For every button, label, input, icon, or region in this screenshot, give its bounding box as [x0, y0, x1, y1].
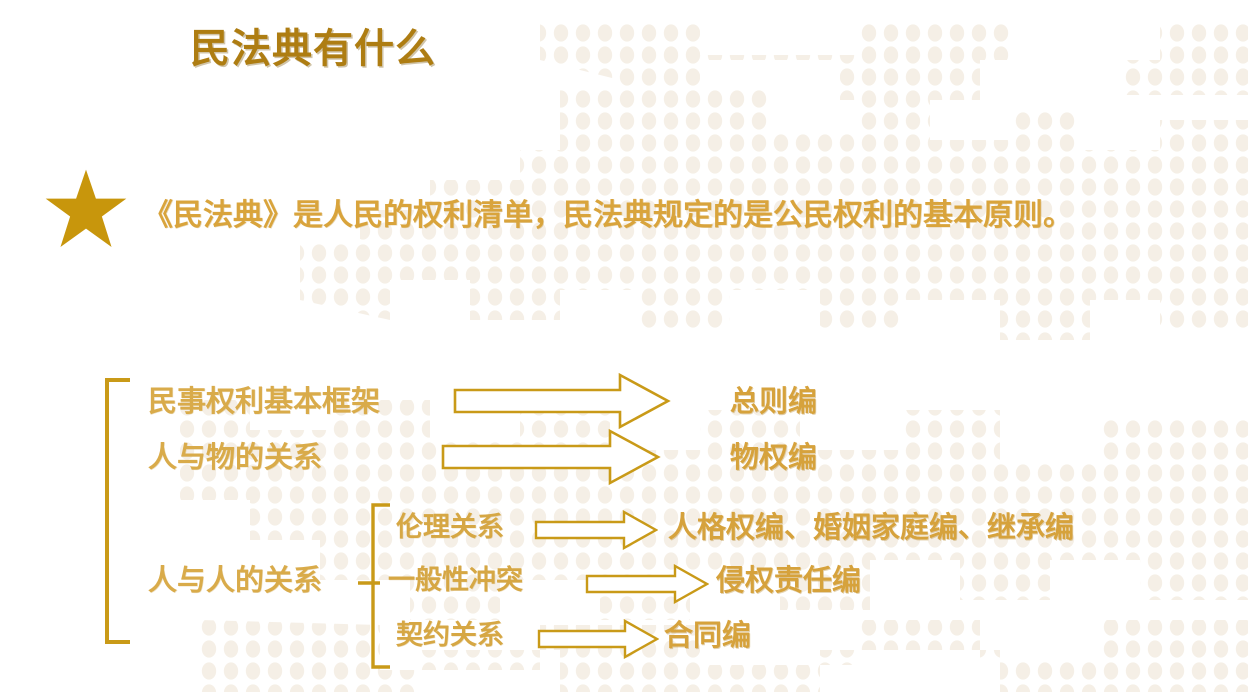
- block-arrow-right-3: [534, 510, 658, 550]
- subtitle-text: 《民法典》是人民的权利清单，民法典规定的是公民权利的基本原则。: [143, 196, 1073, 235]
- diagram-group-label: 人与人的关系: [148, 567, 322, 596]
- slide-canvas: 民法典有什么 《民法典》是人民的权利清单，民法典规定的是公民权利的基本原则。 民…: [0, 0, 1248, 692]
- diagram-target-label-3: 人格权编、婚姻家庭编、继承编: [668, 514, 1074, 543]
- diagram-source-label-4: 一般性冲突: [388, 567, 523, 594]
- bracket-tree-diagram: 民事权利基本框架 总则编 人与物的关系 物权编 人与人的关系 伦理关系 人格权编…: [0, 0, 1248, 692]
- diagram-target-label-4: 侵权责任编: [716, 567, 861, 596]
- diagram-source-label-1: 民事权利基本框架: [148, 388, 380, 417]
- page-title: 民法典有什么: [190, 26, 436, 72]
- star-icon: [44, 168, 128, 252]
- diagram-source-label-3: 伦理关系: [396, 514, 504, 541]
- diagram-source-label-5: 契约关系: [396, 622, 504, 649]
- diagram-target-label-1: 总则编: [730, 388, 817, 417]
- block-arrow-right-1: [452, 372, 672, 430]
- block-arrow-right-4: [585, 564, 709, 604]
- diagram-target-label-2: 物权编: [730, 444, 817, 473]
- block-arrow-right-5: [537, 619, 659, 659]
- diagram-target-label-5: 合同编: [664, 622, 751, 651]
- diagram-source-label-2: 人与物的关系: [148, 444, 322, 473]
- outer-bracket: [100, 376, 136, 646]
- block-arrow-right-2: [440, 428, 662, 486]
